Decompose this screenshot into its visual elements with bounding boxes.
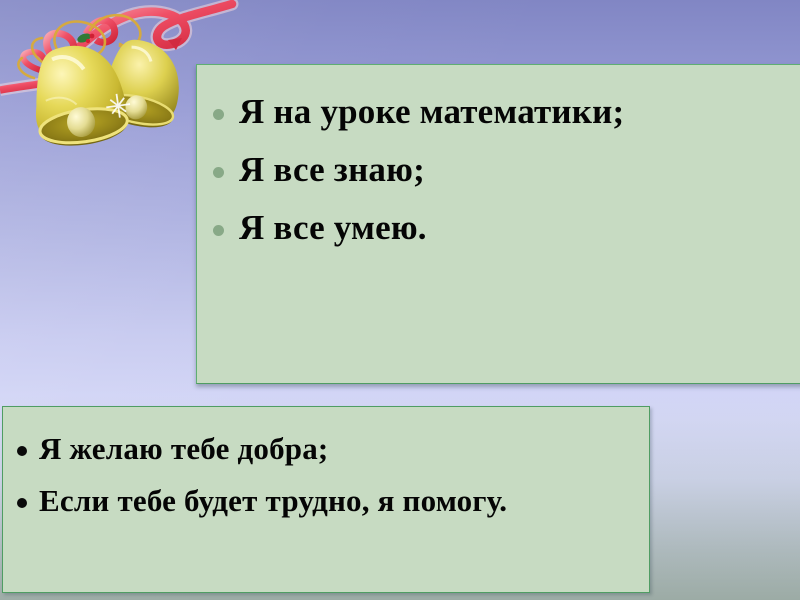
- holly-leaf: [76, 32, 94, 45]
- list-item-label: Я желаю тебе добра;: [39, 423, 599, 475]
- bell-front: [27, 39, 135, 151]
- slide-canvas: Я на уроке математики; Я все знаю; Я все…: [0, 0, 800, 600]
- bullet-dot-icon: [213, 167, 224, 178]
- list-item-label: Я на уроке математики;: [239, 83, 800, 141]
- list-item-label: Я все знаю;: [239, 141, 800, 199]
- list-item: Если тебе будет трудно, я помогу.: [13, 475, 599, 527]
- bullet-dot-icon: [213, 225, 224, 236]
- bottom-text-box: Я желаю тебе добра; Если тебе будет труд…: [2, 406, 650, 593]
- bullet-dot-icon: [17, 446, 27, 456]
- bell-back: [97, 35, 188, 133]
- gold-tinsel: [18, 15, 160, 78]
- list-item: Я желаю тебе добра;: [13, 423, 599, 475]
- bullet-dot-icon: [213, 109, 224, 120]
- list-item-label: Я все умею.: [239, 199, 800, 257]
- list-item: Я все знаю;: [209, 141, 800, 199]
- bullet-dot-icon: [17, 498, 27, 508]
- top-text-box: Я на уроке математики; Я все знаю; Я все…: [196, 64, 800, 384]
- list-item-label: Если тебе будет трудно, я помогу.: [39, 475, 599, 527]
- top-bullet-list: Я на уроке математики; Я все знаю; Я все…: [209, 83, 800, 257]
- list-item: Я все умею.: [209, 199, 800, 257]
- list-item: Я на уроке математики;: [209, 83, 800, 141]
- bottom-bullet-list: Я желаю тебе добра; Если тебе будет труд…: [13, 423, 649, 527]
